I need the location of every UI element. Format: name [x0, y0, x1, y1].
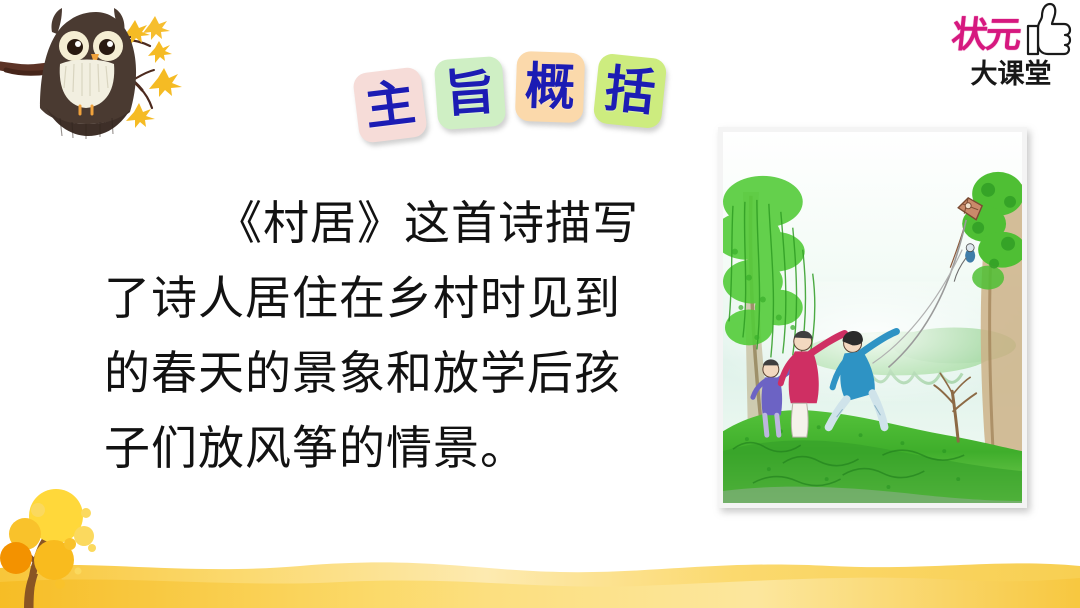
title-tile-2: 概 — [515, 51, 585, 123]
logo-top-row: 状元 — [948, 4, 1074, 56]
slide-canvas: 状元 大课堂 主 旨 概 括 《村居》这首诗描写 了诗人居住在乡村时见到 的春天… — [0, 0, 1080, 608]
title-char-2: 概 — [524, 61, 576, 113]
owl-on-branch-illustration — [0, 0, 200, 146]
body-line-2: 的春天的景象和放学后孩 — [104, 336, 684, 411]
body-line-1: 了诗人居住在乡村时见到 — [104, 261, 684, 336]
thumbs-up-hand-icon — [1026, 2, 1072, 58]
title-tile-3: 括 — [593, 53, 668, 130]
village-kite-flying-painting — [718, 127, 1027, 508]
page-title: 主 旨 概 括 — [352, 46, 672, 158]
body-paragraph: 《村居》这首诗描写 了诗人居住在乡村时见到 的春天的景象和放学后孩 子们放风筝的… — [104, 186, 684, 486]
title-tile-0: 主 — [352, 66, 428, 144]
title-char-0: 主 — [362, 77, 418, 133]
body-line-0: 《村居》这首诗描写 — [104, 186, 684, 261]
title-char-3: 括 — [603, 64, 658, 119]
body-line-3: 子们放风筝的情景。 — [104, 411, 684, 486]
logo-zhuangyuan-text: 状元 — [949, 6, 1022, 58]
title-tile-1: 旨 — [434, 56, 507, 131]
autumn-tree-illustration — [0, 478, 170, 608]
brand-logo: 状元 大课堂 — [948, 4, 1074, 100]
title-char-1: 旨 — [443, 66, 496, 119]
